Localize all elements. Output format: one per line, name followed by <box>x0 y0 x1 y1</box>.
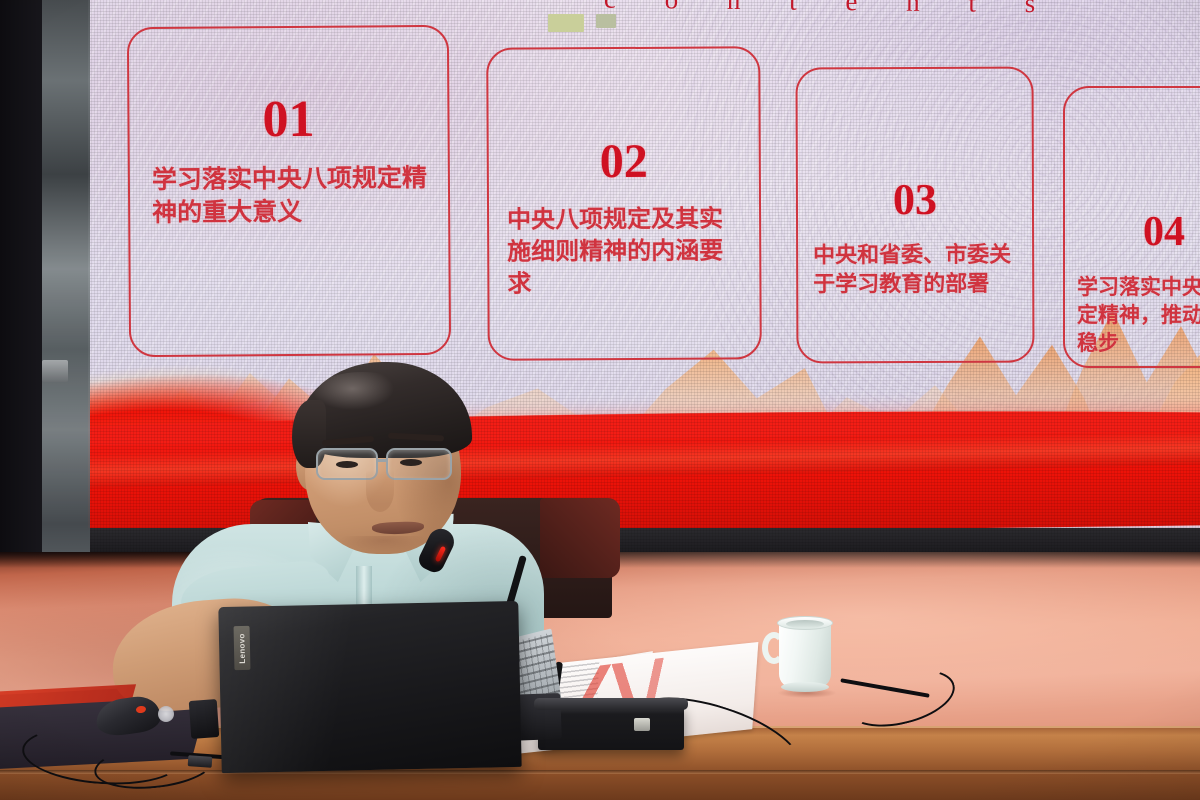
conference-room-scene: c o n t e n t s 01 学习落实中央八项规定精神的重大意义 02 … <box>0 0 1200 800</box>
card-number: 03 <box>798 174 1032 226</box>
slide-card-03: 03 中央和省委、市委关于学习教育的部署 <box>795 67 1034 364</box>
card-number: 02 <box>489 133 759 189</box>
laptop-lid-sheen <box>218 601 521 773</box>
mouse-brand-logo <box>158 706 174 722</box>
mug-base <box>781 682 829 692</box>
lenovo-laptop-lid[interactable] <box>218 601 521 773</box>
nose <box>366 470 394 512</box>
microphone-talk-button[interactable] <box>634 718 650 731</box>
slide-card-02: 02 中央八项规定及其实施细则精神的内涵要求 <box>486 46 762 360</box>
chin-shadow <box>336 536 432 558</box>
ceramic-mug <box>779 620 831 688</box>
microphone-base-top <box>534 698 688 710</box>
chair-side-right <box>540 498 620 578</box>
lenovo-logo: Lenovo <box>234 626 251 670</box>
card-number: 01 <box>129 89 447 150</box>
usb-connector[interactable] <box>188 755 213 768</box>
eye-right <box>400 459 422 466</box>
eye-left <box>336 461 358 468</box>
cable-adapter <box>189 699 220 739</box>
lenovo-logo-text: Lenovo <box>237 633 247 663</box>
card-text: 中央八项规定及其实施细则精神的内涵要求 <box>489 203 759 300</box>
card-text: 中央和省委、市委关于学习教育的部署 <box>798 241 1032 300</box>
card-text: 学习落实中央八项规定精神，推动投发展稳步 <box>1065 274 1200 358</box>
slide-card-01: 01 学习落实中央八项规定精神的重大意义 <box>127 25 451 357</box>
card-text: 学习落实中央八项规定精神的重大意义 <box>130 161 448 230</box>
mug-interior <box>786 620 824 628</box>
microphone-spec-label <box>548 14 584 32</box>
card-number: 04 <box>1065 208 1200 256</box>
slide-card-04: 04 学习落实中央八项规定精神，推动投发展稳步 <box>1063 86 1200 368</box>
microphone-brand-label <box>596 14 616 28</box>
door-handle <box>42 360 68 382</box>
hair-highlight <box>314 372 410 414</box>
